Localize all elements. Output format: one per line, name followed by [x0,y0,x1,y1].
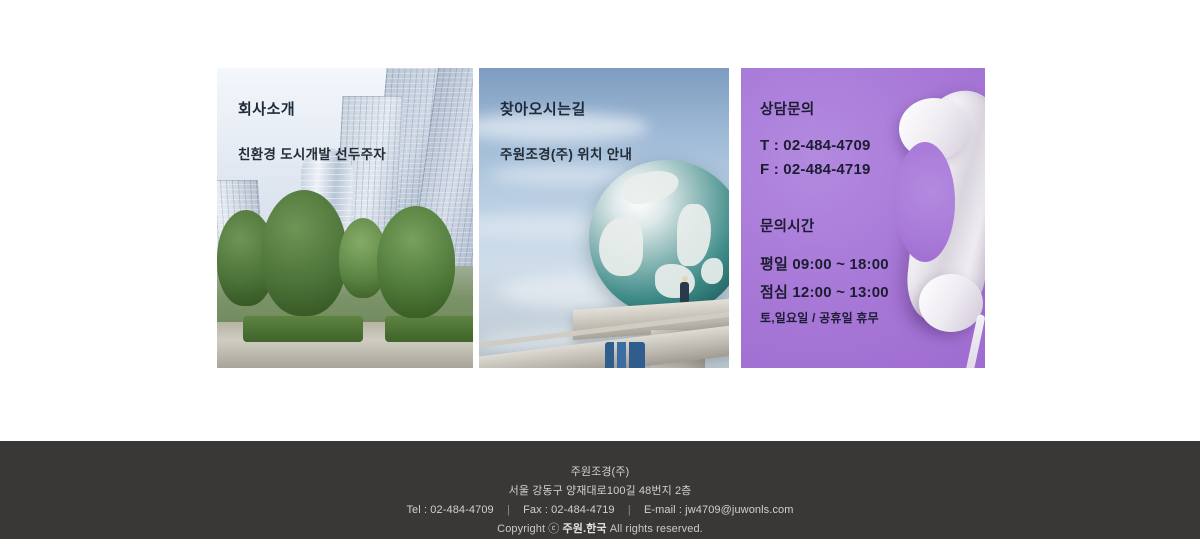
copyright-prefix: Copyright ⓒ [497,523,562,535]
contact-fax: F : 02-484-4719 [760,161,889,178]
footer-separator: | [497,504,520,516]
cards-row: 회사소개 친환경 도시개발 선두주자 [217,68,985,368]
card-company-intro-text: 회사소개 친환경 도시개발 선두주자 [238,98,386,163]
footer-contact-line: Tel : 02-484-4709 | Fax : 02-484-4719 | … [0,501,1200,520]
hours-closed-notice: 토,일요일 / 공휴일 휴무 [760,309,889,326]
foreground-objects [605,342,645,368]
card-directions[interactable]: 찾아오시는길 주원조경(주) 위치 안내 [479,68,729,368]
footer-company-name: 주원조경(주) [0,463,1200,482]
footer-email[interactable]: E-mail : jw4709@juwonls.com [644,504,794,516]
footer-copyright: Copyright ⓒ 주원.한국 All rights reserved. [0,520,1200,539]
card-company-intro-subtitle: 친환경 도시개발 선두주자 [238,143,386,163]
landmass [620,167,681,208]
card-directions-subtitle: 주원조경(주) 위치 안내 [500,143,632,163]
hours-heading: 문의시간 [760,215,889,236]
landmass [655,264,695,298]
contact-heading: 상담문의 [760,98,889,119]
footer-address: 서울 강동구 양재대로100길 48번지 2층 [0,482,1200,501]
hedge-icon [243,316,363,342]
hours-weekday: 평일 09:00 ~ 18:00 [760,253,889,274]
copyright-suffix: All rights reserved. [607,523,703,535]
cards-section: 회사소개 친환경 도시개발 선두주자 [0,0,1200,441]
tree-icon [377,206,455,318]
card-contact[interactable]: 상담문의 T : 02-484-4709 F : 02-484-4719 문의시… [741,68,985,368]
card-directions-title: 찾아오시는길 [500,98,632,119]
card-directions-text: 찾아오시는길 주원조경(주) 위치 안내 [500,98,632,163]
footer-fax: Fax : 02-484-4719 [523,504,615,516]
handset-inner-cut [895,142,955,262]
tree-icon [261,190,347,316]
footer-separator: | [618,504,641,516]
landmass [677,204,711,266]
card-contact-text: 상담문의 T : 02-484-4709 F : 02-484-4719 문의시… [760,98,889,326]
copyright-brand: 주원.한국 [563,523,607,535]
contact-tel: T : 02-484-4709 [760,137,889,154]
landmass [599,218,643,276]
card-company-intro-title: 회사소개 [238,98,386,119]
card-company-intro[interactable]: 회사소개 친환경 도시개발 선두주자 [217,68,473,368]
hours-lunch: 점심 12:00 ~ 13:00 [760,281,889,302]
landmass [701,258,723,284]
handset-mouthpiece [919,274,983,332]
footer-tel: Tel : 02-484-4709 [406,504,493,516]
telephone-handset-icon [895,90,985,360]
hedge-icon [385,316,473,342]
site-footer: 주원조경(주) 서울 강동구 양재대로100길 48번지 2층 Tel : 02… [0,441,1200,539]
